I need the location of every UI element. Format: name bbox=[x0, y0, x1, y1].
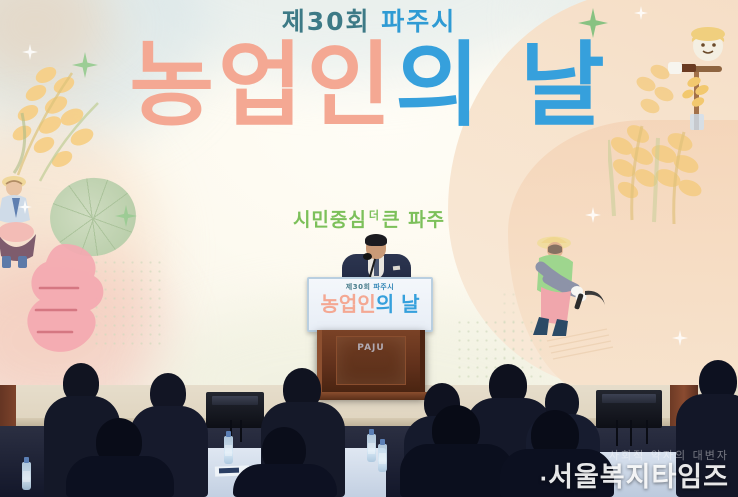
podium-sign-title: 농업인의 날 bbox=[309, 294, 431, 314]
microphone-icon bbox=[363, 253, 372, 260]
stage-monitor-right bbox=[596, 390, 662, 428]
monitor-stand-right-c bbox=[646, 420, 648, 444]
attendee-body bbox=[233, 464, 337, 497]
table-document-blue bbox=[219, 468, 239, 474]
banner-subtitle-small: 더 bbox=[369, 209, 380, 222]
podium-sign-city: 파주시 bbox=[373, 283, 394, 291]
podium-sign-edition: 제30회 bbox=[346, 283, 371, 291]
water-bottle bbox=[367, 434, 376, 462]
banner-subtitle: 시민중심더큰 파주 bbox=[0, 205, 738, 232]
attendee-body bbox=[400, 444, 514, 497]
water-bottle bbox=[224, 436, 233, 464]
monitor-stand-left-b bbox=[240, 420, 242, 442]
water-bottle bbox=[378, 444, 387, 472]
podium-logo: PAJU bbox=[337, 343, 405, 353]
monitor-stand-right-a bbox=[616, 420, 618, 446]
podium-inner-panel: PAJU bbox=[336, 336, 406, 385]
attendee-body bbox=[500, 449, 614, 497]
podium-title-part1: 농업인 bbox=[321, 292, 376, 316]
banner-subtitle-b: 큰 파주 bbox=[382, 209, 445, 231]
farmer-harvesting-illustration bbox=[527, 225, 613, 365]
banner-title-part1: 농업인 bbox=[129, 32, 395, 139]
banner-main-title: 농업인의 날 bbox=[0, 38, 738, 135]
monitor-grille-right bbox=[602, 394, 656, 403]
speaker-hair bbox=[365, 234, 387, 246]
banner-subtitle-a: 시민중심 bbox=[293, 209, 367, 231]
dotted-grid-pattern-far bbox=[500, 290, 520, 360]
podium-title-part2: 의 날 bbox=[376, 292, 420, 316]
podium-front-sign: 제30회 파주시 농업인의 날 bbox=[307, 277, 433, 332]
white-sparkle-icon-right-lower bbox=[672, 330, 688, 346]
monitor-grille-left bbox=[212, 396, 258, 405]
podium-sign-header: 제30회 파주시 bbox=[309, 282, 431, 292]
monitor-stand-right-b bbox=[630, 420, 632, 446]
photo-scene: 제30회 파주시 농업인의 날 시민중심더큰 파주 제30회 파주시 농업인의 … bbox=[0, 0, 738, 497]
banner-title-part2: 의 날 bbox=[395, 32, 608, 139]
attendee-body bbox=[676, 394, 738, 497]
water-bottle bbox=[22, 462, 31, 490]
podium-base bbox=[312, 392, 430, 400]
attendee-body bbox=[66, 456, 174, 497]
speaker-pocket-square bbox=[393, 266, 400, 271]
podium-body: PAJU bbox=[317, 330, 425, 397]
stage-monitor-left bbox=[206, 392, 264, 428]
